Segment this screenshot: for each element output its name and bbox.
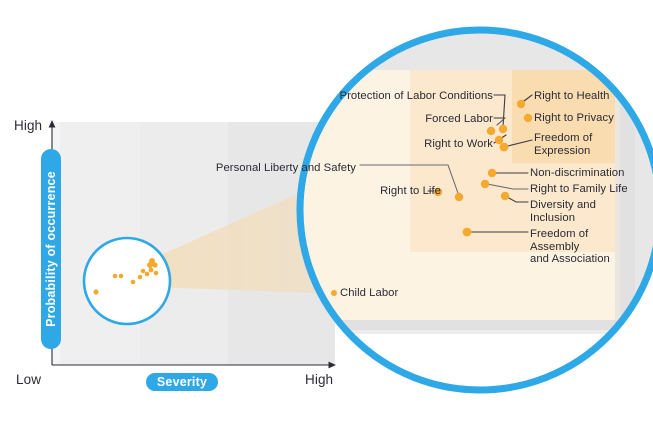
point-non-discrimination xyxy=(488,169,496,177)
label-child-labor: Child Labor xyxy=(340,287,398,300)
x-axis-title-badge: Severity xyxy=(146,373,218,391)
figure-canvas: High Low High Severity Probability of oc… xyxy=(0,0,653,423)
point-forced-labor xyxy=(487,127,495,135)
label-freedom-of-assembly-and-association: Freedom of Assembly and Association xyxy=(530,228,610,266)
label-right-to-work: Right to Work xyxy=(424,138,493,151)
label-protection-of-labor-conditions: Protection of Labor Conditions xyxy=(340,90,493,103)
label-forced-labor: Forced Labor xyxy=(425,113,493,126)
label-right-to-life: Right to Life xyxy=(380,185,441,198)
point-freedom-of-assembly xyxy=(463,228,472,237)
x-axis-low-label: Low xyxy=(16,372,41,387)
point-right-to-family-life xyxy=(481,180,489,188)
y-axis-high-label: High xyxy=(14,118,42,133)
point-protection-of-labor xyxy=(499,125,507,133)
label-diversity-and-inclusion: Diversity and Inclusion xyxy=(530,199,596,224)
point-freedom-of-expression xyxy=(500,143,509,152)
point-child-labor xyxy=(331,290,337,296)
label-right-to-family-life: Right to Family Life xyxy=(530,183,628,196)
label-right-to-health: Right to Health xyxy=(534,90,609,103)
label-non-discrimination: Non-discrimination xyxy=(530,167,624,180)
point-right-to-work xyxy=(495,136,503,144)
point-right-to-privacy xyxy=(524,114,532,122)
point-right-to-health xyxy=(517,100,525,108)
y-axis-title-badge: Probability of occurrence xyxy=(41,149,61,349)
label-freedom-of-expression: Freedom of Expression xyxy=(534,132,592,157)
point-diversity-inclusion xyxy=(501,192,509,200)
label-right-to-privacy: Right to Privacy xyxy=(534,112,614,125)
zoom-source-circle xyxy=(84,238,170,324)
x-axis-high-label: High xyxy=(305,372,333,387)
label-personal-liberty-and-safety: Personal Liberty and Safety xyxy=(216,162,356,175)
point-personal-liberty xyxy=(455,193,463,201)
